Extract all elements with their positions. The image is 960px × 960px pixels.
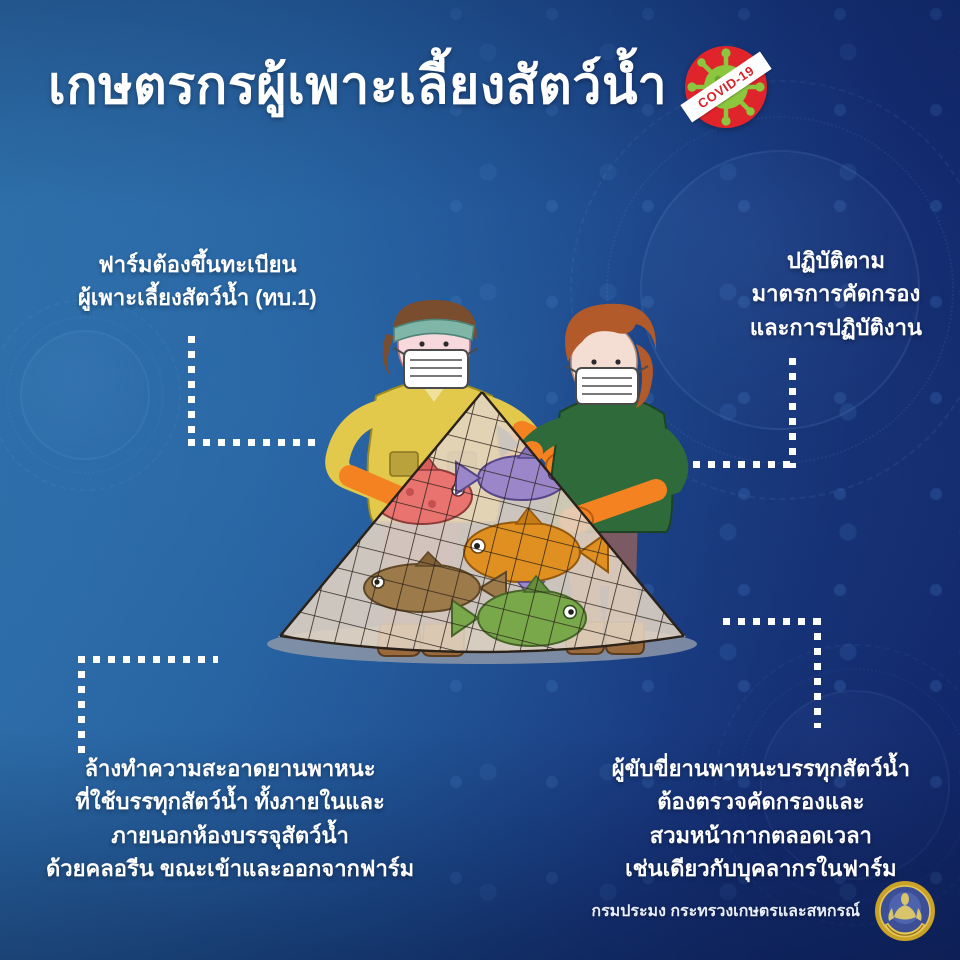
connector-bottom-left-horizontal — [78, 656, 218, 663]
callout-line: ภายนอกห้องบรรจุสัตว์น้ำ — [46, 819, 414, 852]
title-row: เกษตรกรผู้เพาะเลี้ยงสัตว์น้ำ — [48, 46, 767, 128]
callout-line: ที่ใช้บรรทุกสัตว์น้ำ ทั้งภายในและ — [46, 785, 414, 818]
government-seal-icon — [874, 880, 936, 942]
connector-bottom-right-vertical — [814, 618, 821, 728]
covid-19-badge: COVID-19 — [685, 46, 767, 128]
callout-driver-screening: ผู้ขับขี่ยานพาหนะบรรทุกสัตว์น้ำ ต้องตรวจ… — [612, 752, 910, 886]
face-mask-left — [394, 348, 478, 388]
two-fishermen-with-net-illustration — [232, 300, 732, 700]
callout-line: ปฏิบัติตาม — [750, 244, 922, 277]
callout-farm-registration: ฟาร์มต้องขึ้นทะเบียน ผู้เพาะเลี้ยงสัตว์น… — [78, 248, 317, 315]
callout-line: ผู้ขับขี่ยานพาหนะบรรทุกสัตว์น้ำ — [612, 752, 910, 785]
infographic-poster: เกษตรกรผู้เพาะเลี้ยงสัตว์น้ำ — [0, 0, 960, 960]
footer-text: กรมประมง กระทรวงเกษตรและสหกรณ์ — [591, 899, 860, 924]
connector-bottom-left-vertical — [78, 656, 85, 760]
callout-line: สวมหน้ากากตลอดเวลา — [612, 819, 910, 852]
connector-bottom-right-horizontal — [723, 618, 821, 625]
callout-vehicle-cleaning: ล้างทำความสะอาดยานพาหนะ ที่ใช้บรรทุกสัตว… — [46, 752, 414, 886]
face-mask-right — [566, 366, 648, 404]
callout-line: มาตรการคัดกรอง — [750, 277, 922, 310]
footer-credit: กรมประมง กระทรวงเกษตรและสหกรณ์ — [591, 880, 936, 942]
page-title: เกษตรกรผู้เพาะเลี้ยงสัตว์น้ำ — [48, 57, 667, 117]
callout-line: ล้างทำความสะอาดยานพาหนะ — [46, 752, 414, 785]
callout-line: ต้องตรวจคัดกรองและ — [612, 785, 910, 818]
callout-line: ผู้เพาะเลี้ยงสัตว์น้ำ (ทบ.1) — [78, 281, 317, 314]
callout-line: ด้วยคลอรีน ขณะเข้าและออกจากฟาร์ม — [46, 852, 414, 885]
connector-top-left-vertical — [188, 336, 195, 446]
callout-line: ฟาร์มต้องขึ้นทะเบียน — [78, 248, 317, 281]
connector-top-right-vertical — [789, 358, 796, 468]
callout-screening-measures: ปฏิบัติตาม มาตรการคัดกรอง และการปฏิบัติง… — [750, 244, 922, 344]
callout-line: และการปฏิบัติงาน — [750, 311, 922, 344]
